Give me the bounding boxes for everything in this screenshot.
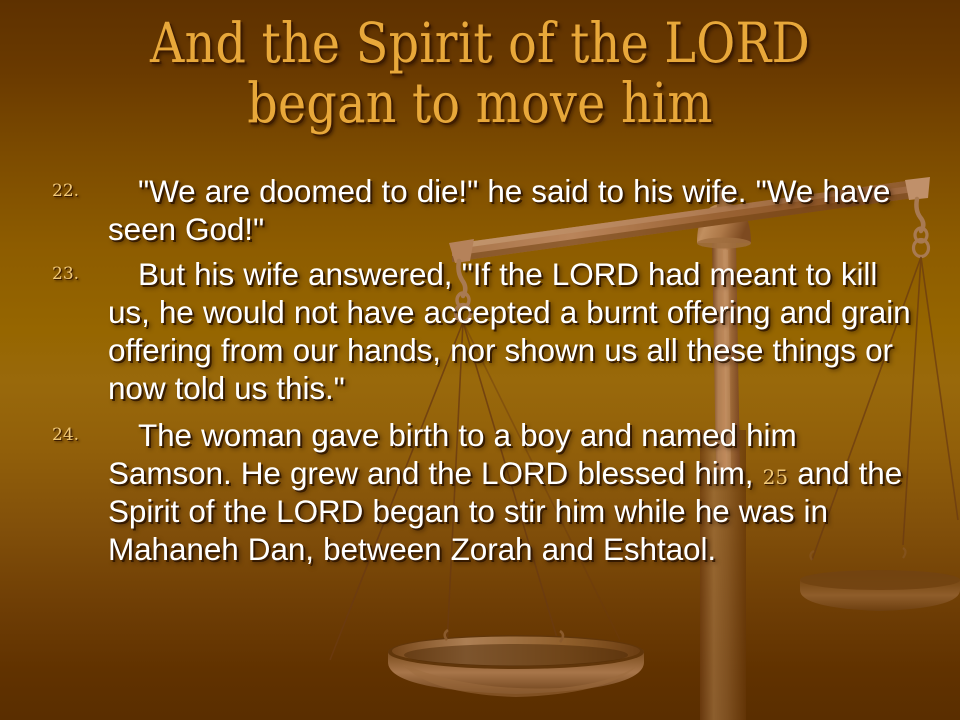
verse-24-text-before: The woman gave birth to a boy and named … [108, 417, 797, 491]
inline-verse-number-25: 25 [763, 465, 788, 489]
verse-number-23: 23. [52, 264, 102, 284]
verse-text-24: The woman gave birth to a boy and named … [108, 416, 920, 569]
verse-text-23: But his wife answered, "If the LORD had … [108, 255, 920, 408]
scale-left-pan [388, 630, 644, 697]
verse-text-22: "We are doomed to die!" he said to his w… [108, 172, 920, 249]
verse-item-24: 24. The woman gave birth to a boy and na… [48, 416, 920, 569]
slide-title-line-2: began to move him [14, 76, 945, 132]
slide-title: And the Spirit of the LORD began to move… [0, 16, 960, 126]
verse-list: 22. "We are doomed to die!" he said to h… [48, 172, 920, 571]
verse-item-22: 22. "We are doomed to die!" he said to h… [48, 172, 920, 249]
verse-item-23: 23. But his wife answered, "If the LORD … [48, 255, 920, 408]
verse-number-24: 24. [52, 425, 102, 445]
verse-number-22: 22. [52, 181, 102, 201]
presentation-slide: And the Spirit of the LORD began to move… [0, 0, 960, 720]
slide-title-line-1: And the Spirit of the LORD [14, 16, 945, 72]
